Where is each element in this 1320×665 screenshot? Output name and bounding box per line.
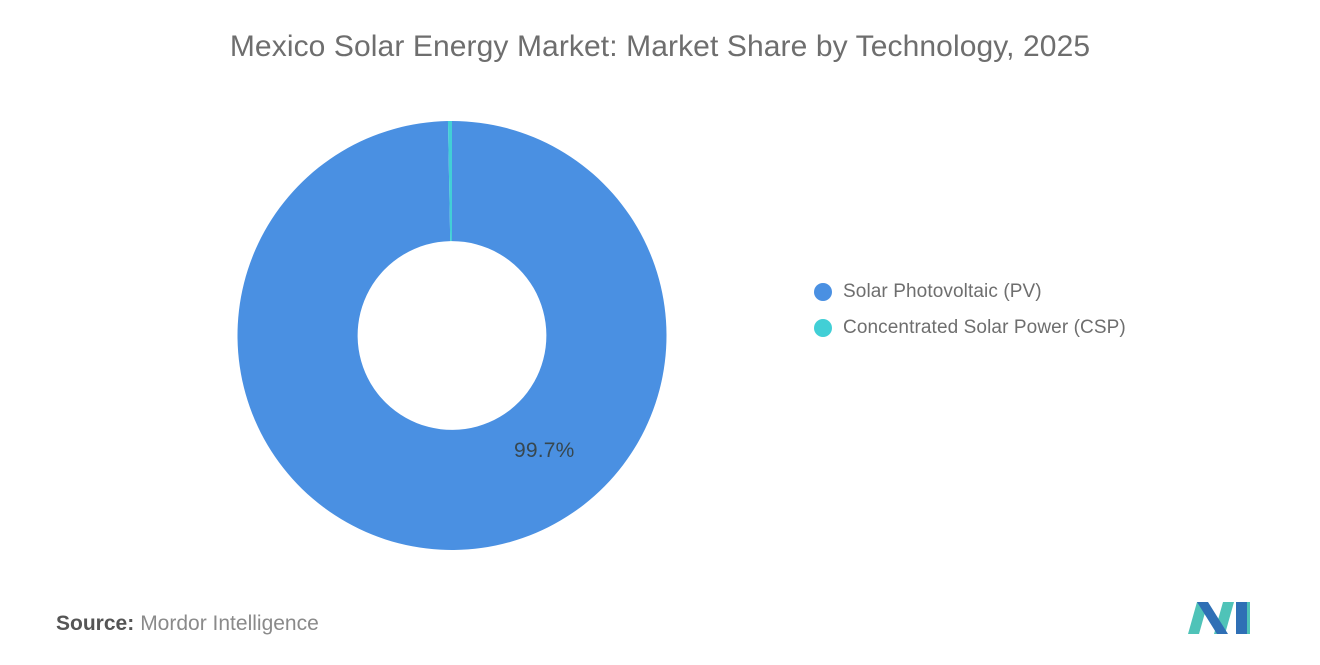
source-label: Source: <box>56 612 134 635</box>
legend-label-concentrated-solar-power: Concentrated Solar Power (CSP) <box>843 317 1126 339</box>
legend-item-concentrated-solar-power[interactable]: Concentrated Solar Power (CSP) <box>814 318 1126 338</box>
legend-swatch-circle-icon <box>814 319 832 337</box>
donut-data-label-pv: 99.7% <box>514 439 575 463</box>
legend-swatch-circle-icon <box>814 283 832 301</box>
market-share-donut-chart: Mexico Solar Energy Market: Market Share… <box>0 0 1320 665</box>
source-value: Mordor Intelligence <box>140 612 319 635</box>
legend-label-solar-photovoltaic: Solar Photovoltaic (PV) <box>843 281 1042 303</box>
chart-title: Mexico Solar Energy Market: Market Share… <box>0 30 1320 64</box>
chart-legend: Solar Photovoltaic (PV) Concentrated Sol… <box>814 282 1126 338</box>
donut-svg <box>237 120 667 551</box>
legend-item-solar-photovoltaic[interactable]: Solar Photovoltaic (PV) <box>814 282 1126 302</box>
source-attribution: Source:Mordor Intelligence <box>56 612 319 636</box>
mordor-intelligence-logo-icon <box>1184 598 1254 638</box>
donut-chart-plot-area: 99.7% <box>237 120 667 551</box>
